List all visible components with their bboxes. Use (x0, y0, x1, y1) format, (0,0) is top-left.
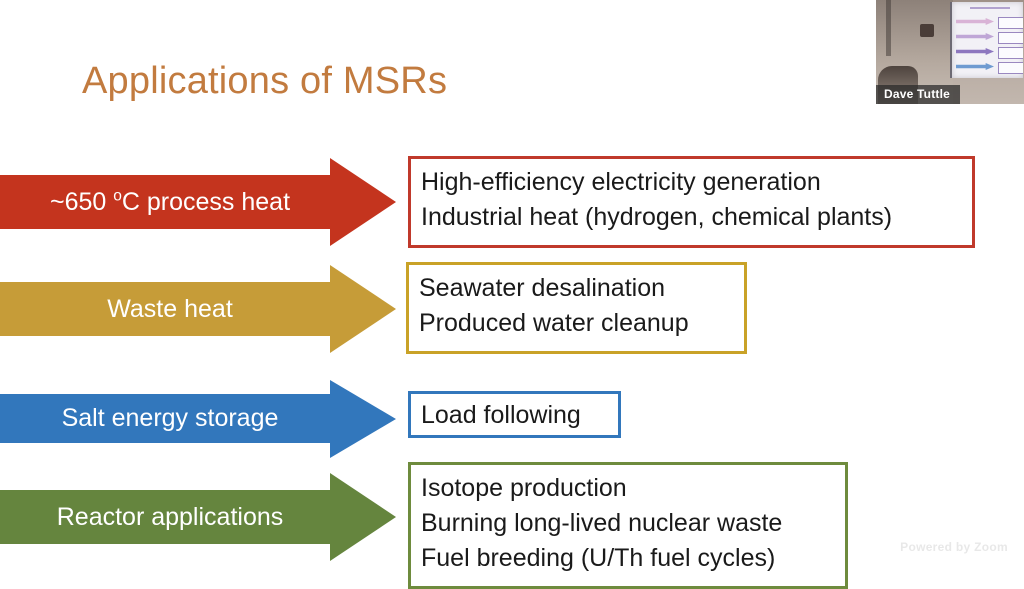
callout-box-waste-heat: Seawater desalination Produced water cle… (406, 262, 747, 354)
mini-title-line (970, 7, 1010, 9)
callout-box-process-heat: High-efficiency electricity generation I… (408, 156, 975, 248)
projected-slide (950, 2, 1023, 78)
arrow-shape-waste-heat (0, 262, 400, 357)
mini-arrow (956, 63, 994, 70)
participant-name-label: Dave Tuttle (876, 85, 960, 104)
webcam-video-thumbnail[interactable]: Dave Tuttle (876, 0, 1024, 104)
mini-arrow (956, 48, 994, 55)
callout-line: Load following (421, 398, 608, 433)
callout-line: Isotope production (421, 471, 835, 506)
arrow-shape-reactor-applications (0, 470, 400, 565)
arrow-shape-salt-storage (0, 378, 400, 460)
callout-box-reactor-applications: Isotope production Burning long-lived nu… (408, 462, 848, 589)
presentation-slide: Applications of MSRs ~650 oC process hea… (0, 0, 1024, 589)
callout-box-load-following: Load following (408, 391, 621, 438)
arrow-shape-process-heat (0, 155, 400, 250)
callout-line: Industrial heat (hydrogen, chemical plan… (421, 200, 962, 235)
callout-line: Seawater desalination (419, 271, 734, 306)
mini-box (998, 17, 1023, 29)
mini-arrow (956, 33, 994, 40)
mini-box (998, 47, 1023, 59)
callout-line: Fuel breeding (U/Th fuel cycles) (421, 541, 835, 576)
mini-box (998, 32, 1023, 44)
door-frame (886, 0, 891, 56)
mini-box (998, 62, 1023, 74)
callout-line: High-efficiency electricity generation (421, 165, 962, 200)
wall-object (920, 24, 934, 37)
zoom-watermark: Powered by Zoom (900, 540, 1008, 554)
page-title: Applications of MSRs (82, 60, 447, 103)
callout-line: Produced water cleanup (419, 306, 734, 341)
mini-arrow (956, 18, 994, 25)
callout-line: Burning long-lived nuclear waste (421, 506, 835, 541)
